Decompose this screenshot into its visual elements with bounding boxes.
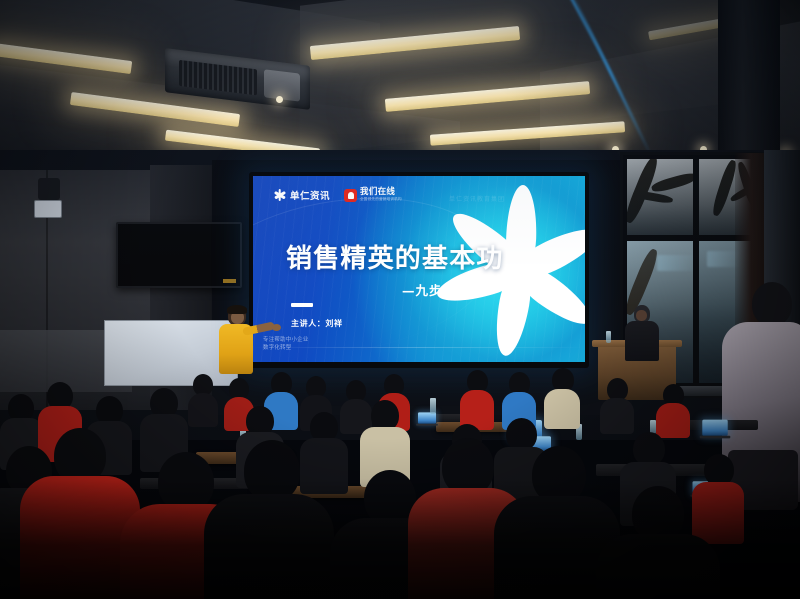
window-pane xyxy=(627,159,693,235)
projection-screen: 单仁资讯 我们在线 全国领先的营销培训机构 单仁资讯教育集团 销售精英的基本功 … xyxy=(249,172,589,368)
laptop-screen xyxy=(418,412,436,423)
logo-danren: 单仁资讯 xyxy=(273,188,330,202)
laptop xyxy=(702,420,728,439)
slide-footer: 专注帮助中小企业 数字化转型 xyxy=(263,336,309,352)
wall-control-panel xyxy=(34,200,62,218)
audience-member xyxy=(204,440,334,599)
logo-womenzaixian: 我们在线 全国领先的营销培训机构 xyxy=(344,188,402,202)
ac-grille-icon xyxy=(179,60,257,96)
torso-cream-shirt xyxy=(544,389,580,429)
classroom-photo: 单仁资讯 我们在线 全国领先的营销培训机构 单仁资讯教育集团 销售精英的基本功 … xyxy=(0,0,800,599)
torso xyxy=(188,393,218,427)
pointing-hand xyxy=(272,324,281,331)
torso xyxy=(204,494,334,599)
audience-member xyxy=(460,370,494,428)
slide-watermark: 单仁资讯教育集团 xyxy=(449,194,505,203)
logo-b-text-col: 我们在线 全国领先的营销培训机构 xyxy=(360,188,402,202)
water-bottle xyxy=(430,398,436,414)
audience-member xyxy=(656,384,690,436)
slide-title: 销售精英的基本功 xyxy=(286,238,504,275)
torso xyxy=(600,398,634,434)
logo-womenzaixian-label: 我们在线 xyxy=(360,188,402,197)
ceiling xyxy=(0,0,800,168)
wall-speaker-icon xyxy=(38,178,60,200)
slide-footer-line-2: 数字化转型 xyxy=(263,344,309,352)
ceiling-pillar xyxy=(718,0,780,168)
logo-danren-label: 单仁资讯 xyxy=(290,188,330,202)
audience-member xyxy=(600,378,634,432)
asterisk-icon xyxy=(273,189,286,202)
podium-person xyxy=(625,305,659,357)
water-bottle xyxy=(606,331,611,343)
laptop-base xyxy=(416,424,438,426)
torso xyxy=(596,534,720,599)
head xyxy=(752,282,792,326)
hair xyxy=(227,305,247,314)
laptop-screen xyxy=(702,420,728,436)
head xyxy=(244,440,300,502)
logo-womenzaixian-sub: 全国领先的营销培训机构 xyxy=(360,198,402,202)
red-badge-icon xyxy=(344,189,357,202)
downlight xyxy=(276,96,283,103)
tv-logo-icon xyxy=(223,279,236,283)
presenter xyxy=(216,306,264,384)
slide-footer-line-1: 专注帮助中小企业 xyxy=(263,336,309,344)
slide-subtitle: —九步成交法 xyxy=(402,280,483,299)
slide-logo-row: 单仁资讯 我们在线 全国领先的营销培训机构 xyxy=(273,188,402,202)
laptop-base xyxy=(700,436,731,439)
slide-speaker: 主讲人：刘祥 xyxy=(291,318,343,329)
audience-member xyxy=(544,368,580,428)
glass-tint xyxy=(627,159,693,235)
audience-member xyxy=(188,374,218,426)
audience-member xyxy=(596,486,720,599)
presentation-slide: 单仁资讯 我们在线 全国领先的营销培训机构 单仁资讯教育集团 销售精英的基本功 … xyxy=(253,176,585,362)
torso xyxy=(625,321,659,361)
slide-divider xyxy=(291,303,313,307)
head xyxy=(633,432,665,466)
face xyxy=(636,310,647,321)
laptop xyxy=(418,412,436,425)
wall-mounted-tv xyxy=(116,222,242,288)
glass-reflection xyxy=(657,255,693,271)
